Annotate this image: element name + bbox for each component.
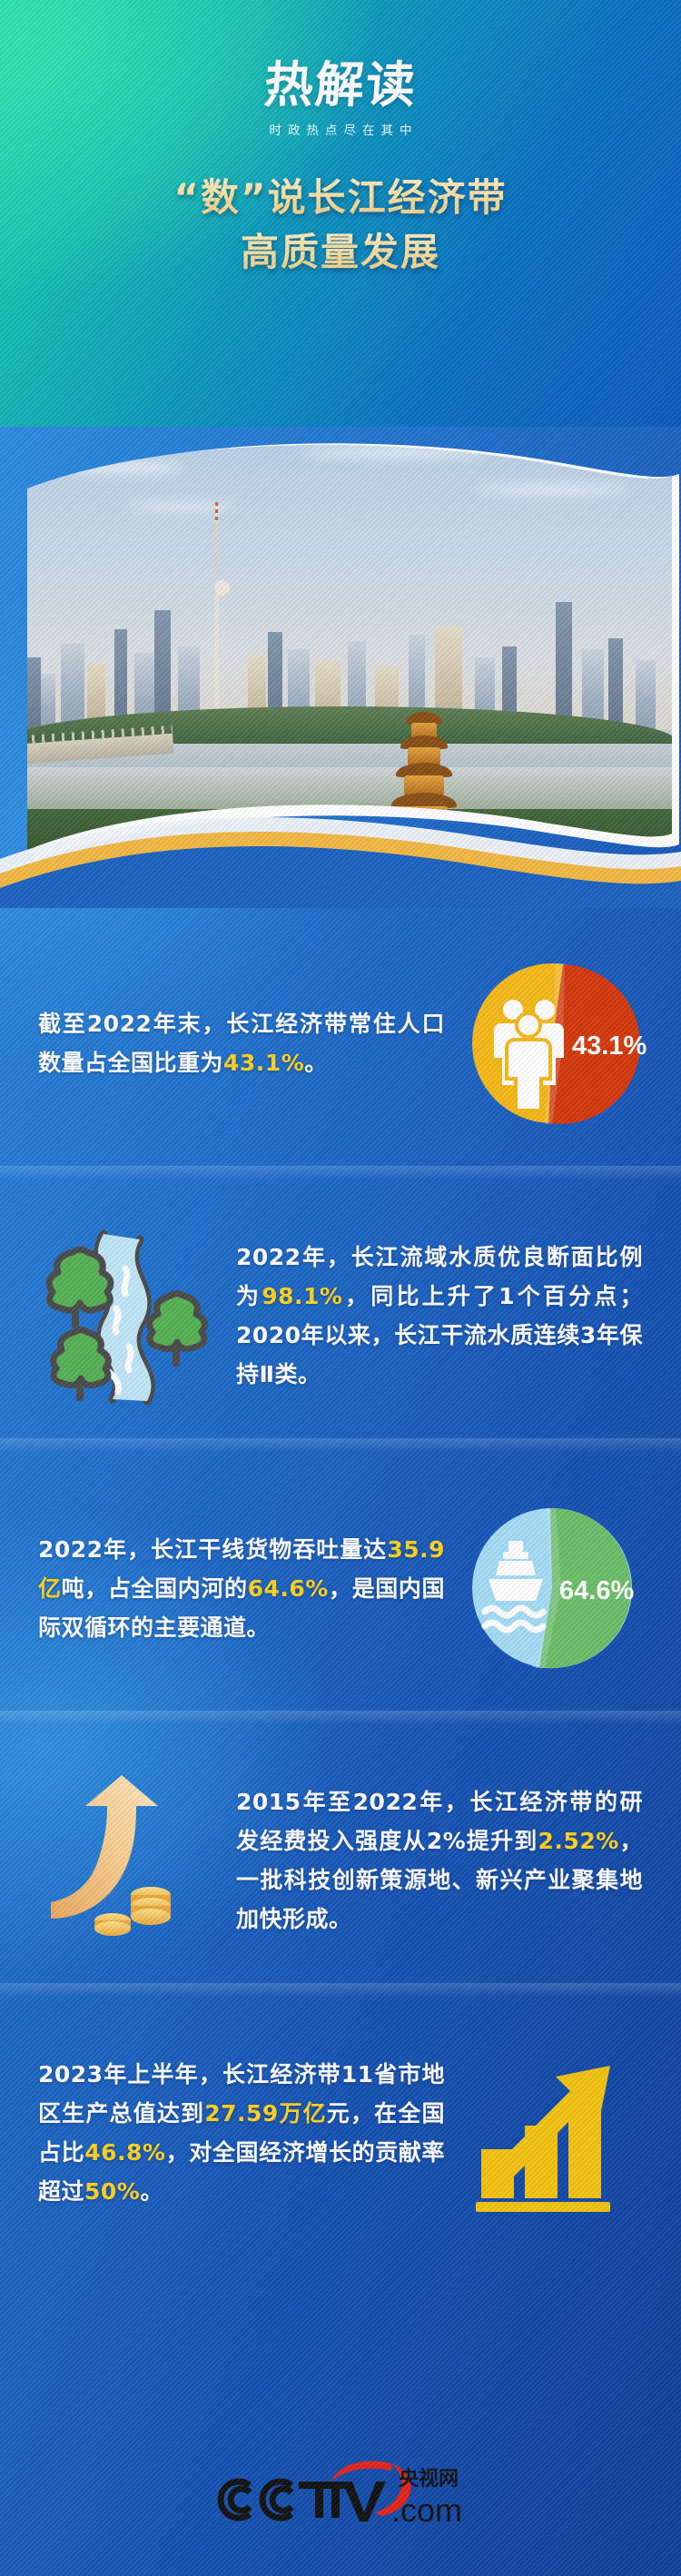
card-gdp-text: 2023年上半年，长江经济带11省市地区生产总值达到27.59万亿元，在全国占比… bbox=[38, 2055, 445, 2211]
cargo-pie-chart: 64.6% bbox=[461, 1497, 643, 1679]
cctv-logo: 央视网 .com bbox=[204, 2456, 477, 2532]
tree-icon bbox=[49, 1249, 111, 1328]
building bbox=[41, 674, 55, 729]
building bbox=[608, 638, 623, 730]
tree-icon bbox=[150, 1294, 205, 1367]
card-rd-intensity: 2015年至2022年，长江经济带的研发经费投入强度从2%提升到2.52%，一批… bbox=[0, 1725, 681, 1998]
tower-spire bbox=[215, 522, 218, 578]
cloud bbox=[301, 447, 492, 459]
card-population-share: 截至2022年末，长江经济带常住人口数量占全国比重为43.1%。 bbox=[0, 908, 681, 1180]
cctv-logo-svg: 央视网 .com bbox=[204, 2456, 477, 2532]
brand-logo-block: 热解读 时政热点尽在其中 bbox=[0, 60, 681, 138]
rising-arrow-coins-icon bbox=[38, 1770, 220, 1951]
growth-bar-chart-illustration bbox=[461, 2042, 643, 2224]
card-water-quality-text: 2022年，长江流域水质优良断面比例为98.1%，同比上升了1个百分点；2020… bbox=[236, 1238, 643, 1394]
text-seg: 吨，占全国内河的 bbox=[62, 1575, 248, 1602]
river-trees-illustration bbox=[38, 1225, 220, 1406]
tower-pod bbox=[214, 580, 230, 596]
cloud bbox=[47, 460, 183, 475]
highlight-value: 46.8% bbox=[84, 2139, 165, 2166]
infographic-page: 热解读 时政热点尽在其中 “数”说长江经济带 高质量发展 bbox=[0, 0, 681, 2576]
building bbox=[21, 657, 41, 730]
brand-tagline: 时政热点尽在其中 bbox=[0, 120, 681, 138]
pie-chart-43: 43.1% bbox=[461, 952, 643, 1134]
rising-arrow-illustration bbox=[38, 1770, 220, 1951]
tv-tower-icon bbox=[214, 502, 219, 730]
bar-2 bbox=[525, 2126, 558, 2198]
highlight-value: 64.6% bbox=[248, 1575, 329, 1602]
highlight-value: 50% bbox=[84, 2178, 140, 2205]
highlight-value: 43.1% bbox=[223, 1050, 304, 1076]
hero-wave-ribbon bbox=[0, 772, 681, 908]
highlight-value: 98.1% bbox=[262, 1283, 342, 1309]
text-seg: 。 bbox=[304, 1050, 328, 1076]
page-title: “数”说长江经济带 高质量发展 bbox=[0, 171, 681, 279]
footer: 央视网 .com bbox=[0, 2413, 681, 2576]
highlight-value: 2.52% bbox=[538, 1828, 619, 1854]
text-seg: 。 bbox=[140, 2178, 163, 2205]
cctv-logo-tld: .com bbox=[391, 2492, 462, 2529]
bar-1 bbox=[481, 2149, 514, 2198]
text-seg: 2022年，长江干线货物吞吐量达 bbox=[38, 1536, 387, 1563]
bar-chart-arrow-icon bbox=[461, 2042, 643, 2224]
card-gdp-contribution: 2023年上半年，长江经济带11省市地区生产总值达到27.59万亿元，在全国占比… bbox=[0, 1998, 681, 2270]
brand-logo-mark: 热解读 bbox=[262, 60, 419, 112]
chart-baseline bbox=[476, 2202, 610, 2212]
cloud bbox=[127, 502, 236, 511]
card-water-quality: 2022年，长江流域水质优良断面比例为98.1%，同比上升了1个百分点；2020… bbox=[0, 1180, 681, 1453]
page-title-line2: 高质量发展 bbox=[0, 225, 681, 280]
building bbox=[61, 644, 84, 730]
river-trees-icon bbox=[38, 1225, 220, 1406]
data-cards-list: 截至2022年末，长江经济带常住人口数量占全国比重为43.1%。 bbox=[0, 908, 681, 2270]
card-cargo-throughput: 2022年，长江干线货物吞吐量达35.9亿吨，占全国内河的64.6%，是国内国际… bbox=[0, 1453, 681, 1725]
tree-icon bbox=[54, 1330, 109, 1402]
pie-label-646: 64.6% bbox=[559, 1576, 634, 1605]
card-cargo-text: 2022年，长江干线货物吞吐量达35.9亿吨，占全国内河的64.6%，是国内国际… bbox=[38, 1530, 445, 1647]
bar-3 bbox=[568, 2097, 601, 2198]
cloud bbox=[475, 484, 629, 495]
cctv-logo-cn: 央视网 bbox=[399, 2467, 459, 2491]
building bbox=[636, 660, 656, 730]
population-pie-chart: 43.1% bbox=[461, 952, 643, 1134]
card-rd-text: 2015年至2022年，长江经济带的研发经费投入强度从2%提升到2.52%，一批… bbox=[236, 1782, 643, 1939]
highlight-value: 27.59万亿 bbox=[204, 2100, 327, 2127]
building bbox=[556, 602, 572, 730]
card-population-text: 截至2022年末，长江经济带常住人口数量占全国比重为43.1%。 bbox=[38, 1004, 445, 1082]
pie-label-43: 43.1% bbox=[572, 1031, 646, 1061]
hero-photo-section bbox=[0, 400, 681, 908]
tower-tip bbox=[215, 502, 218, 522]
page-title-line1: “数”说长江经济带 bbox=[0, 171, 681, 225]
pie-chart-646: 64.6% bbox=[461, 1497, 643, 1679]
